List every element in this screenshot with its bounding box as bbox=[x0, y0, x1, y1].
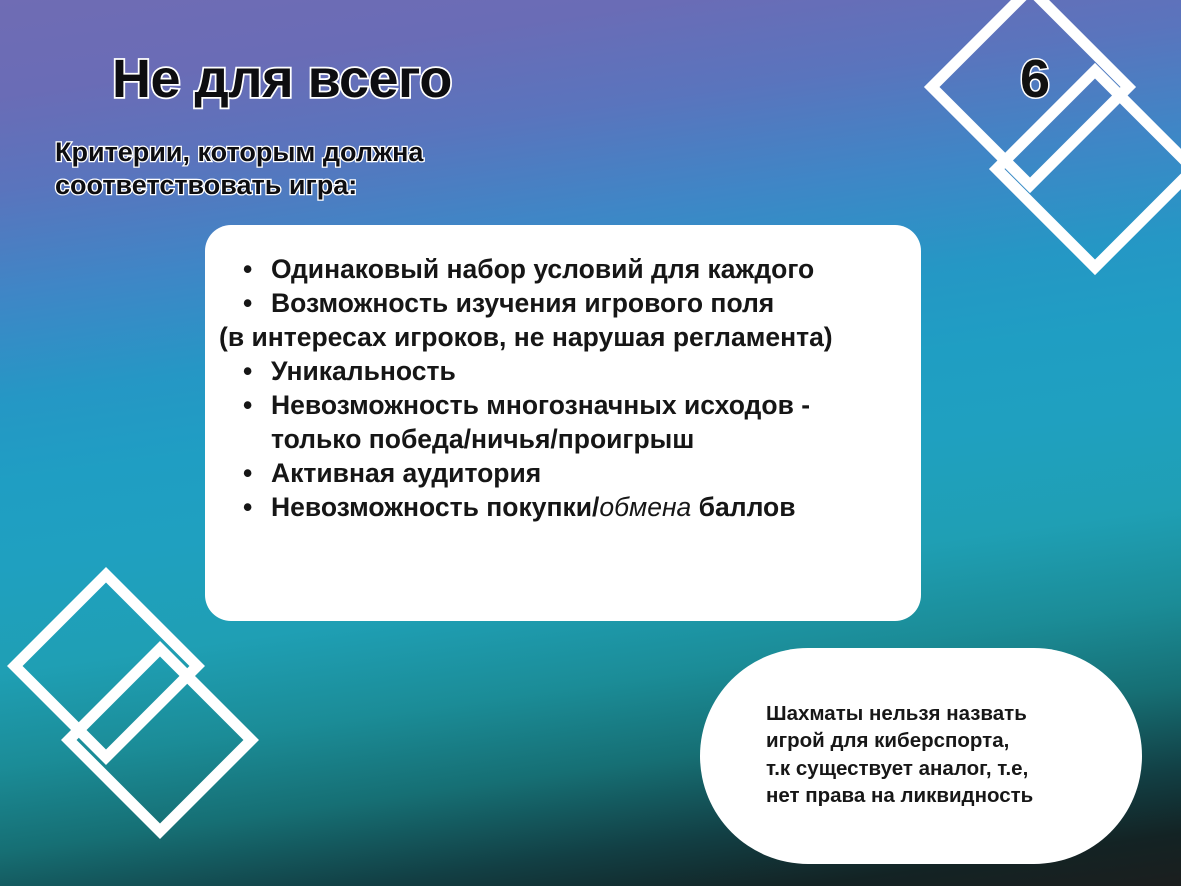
criteria-item-label: (в интересах игроков, не нарушая регламе… bbox=[219, 320, 909, 354]
criteria-item-label: Возможность изучения игрового поля bbox=[271, 286, 909, 320]
bullet-icon: • bbox=[243, 354, 271, 388]
note-line-2: игрой для киберспорта, bbox=[766, 727, 1096, 754]
criteria-item-label: только победа/ничья/проигрыш bbox=[271, 422, 909, 456]
note-line-1: Шахматы нельзя назвать bbox=[766, 700, 1096, 727]
page-title: Не для всего bbox=[112, 48, 452, 110]
bullet-icon: • bbox=[243, 252, 271, 286]
subtitle-line-2: соответствовать игра: bbox=[55, 169, 423, 202]
criteria-item: •Возможность изучения игрового поля bbox=[219, 286, 909, 320]
slide-canvas: 6 Не для всего Критерии, которым должна … bbox=[0, 0, 1181, 886]
note-line-3: т.к существует аналог, т.е, bbox=[766, 755, 1096, 782]
criteria-item: •Уникальность bbox=[219, 354, 909, 388]
criteria-list: •Одинаковый набор условий для каждого•Во… bbox=[219, 252, 909, 524]
note-pill: Шахматы нельзя назвать игрой для киберсп… bbox=[700, 648, 1142, 864]
criteria-item-emphasis: обмена bbox=[599, 492, 691, 522]
criteria-item: (в интересах игроков, не нарушая регламе… bbox=[219, 320, 909, 354]
criteria-item: •Невозможность покупки/обмена баллов bbox=[219, 490, 909, 524]
bullet-icon: • bbox=[243, 456, 271, 490]
page-number: 6 bbox=[1020, 48, 1050, 110]
note-text: Шахматы нельзя назвать игрой для киберсп… bbox=[766, 700, 1096, 809]
note-line-4: нет права на ликвидность bbox=[766, 782, 1096, 809]
criteria-item-label: Невозможность покупки/обмена баллов bbox=[271, 490, 909, 524]
page-subtitle: Критерии, которым должна соответствовать… bbox=[55, 136, 423, 202]
criteria-item: только победа/ничья/проигрыш bbox=[219, 422, 909, 456]
criteria-item-label: Активная аудитория bbox=[271, 456, 909, 490]
criteria-item-label: Невозможность многозначных исходов - bbox=[271, 388, 909, 422]
criteria-card: •Одинаковый набор условий для каждого•Во… bbox=[205, 225, 921, 621]
criteria-item-label: Одинаковый набор условий для каждого bbox=[271, 252, 909, 286]
criteria-item-label: Уникальность bbox=[271, 354, 909, 388]
criteria-item: •Активная аудитория bbox=[219, 456, 909, 490]
bullet-icon: • bbox=[243, 286, 271, 320]
bullet-icon: • bbox=[243, 388, 271, 422]
diamond-decoration-top-right bbox=[920, 0, 1180, 294]
subtitle-line-1: Критерии, которым должна bbox=[55, 136, 423, 169]
bullet-icon: • bbox=[243, 490, 271, 524]
criteria-item: •Одинаковый набор условий для каждого bbox=[219, 252, 909, 286]
criteria-item: •Невозможность многозначных исходов - bbox=[219, 388, 909, 422]
